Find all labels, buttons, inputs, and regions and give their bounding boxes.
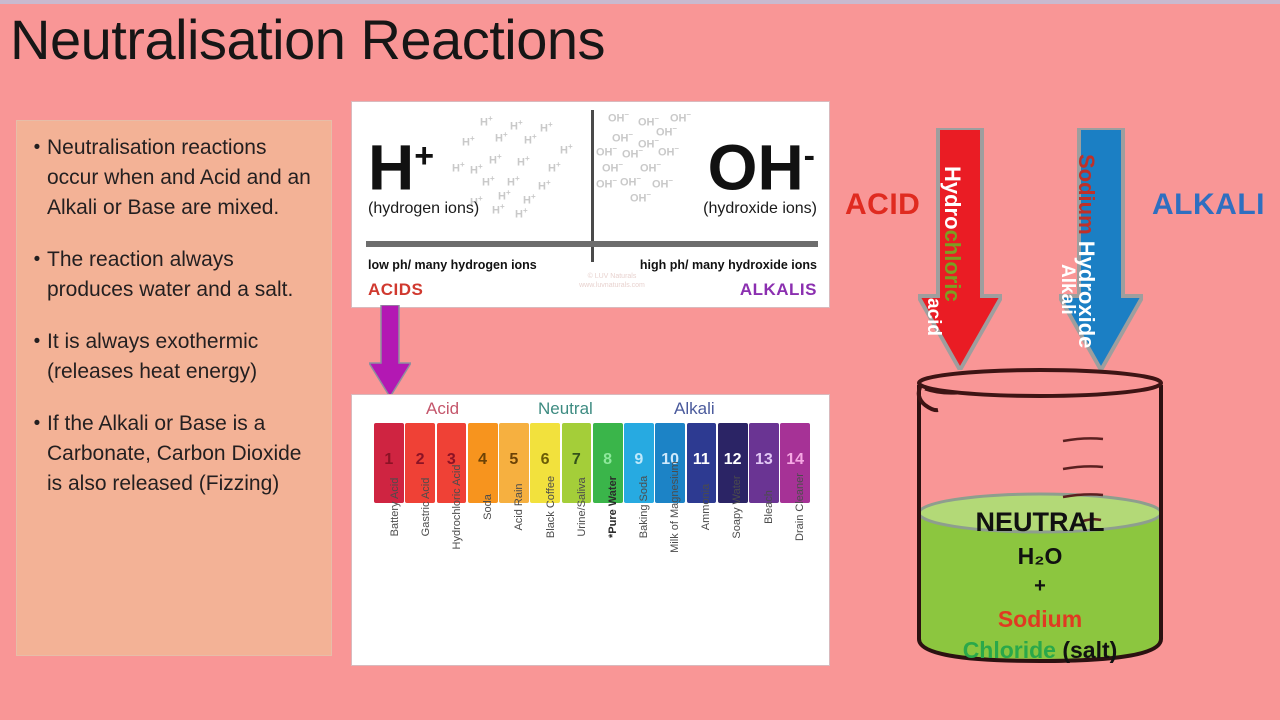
ion-glyph: H+ (548, 160, 561, 175)
acid-heading: ACID (845, 188, 920, 222)
ion-glyph: OH– (652, 176, 673, 191)
ion-glyph: H+ (517, 154, 530, 169)
acid-arrow-subtext: acid (922, 298, 944, 336)
bullet-marker: • (27, 245, 47, 305)
ph-substance-label: Ammonia (700, 484, 712, 530)
beaker-plus-sign: + (905, 575, 1175, 598)
ph-substance-label: Bleach (763, 490, 775, 524)
ph-substance-column: Baking Soda (623, 507, 653, 657)
bullet-marker: • (27, 133, 47, 223)
ph-substance-column: Gastric Acid (405, 507, 435, 657)
acids-label: ACIDS (368, 280, 423, 300)
beaker: NEUTRAL H₂O + Sodium Chloride (salt) (905, 363, 1175, 668)
ion-glyph: H+ (492, 202, 505, 217)
hydrogen-ion-symbol: H+ (368, 124, 434, 199)
ph-substance-column: Soda (467, 507, 497, 657)
ion-glyph: H+ (470, 162, 483, 177)
ion-panel-rule (366, 241, 818, 247)
ion-glyph: H+ (560, 142, 573, 157)
ph-substance-label: Hydrochloric Acid (451, 465, 463, 550)
ph-number: 5 (499, 451, 529, 469)
bullet-item: •It is always exothermic (releases heat … (27, 327, 317, 387)
ph-substance-label: Gastric Acid (420, 478, 432, 537)
ph-substance-column: Soapy Water (717, 507, 747, 657)
top-strip (0, 0, 1280, 4)
ion-glyph: H+ (498, 188, 511, 203)
ion-glyph: OH– (612, 130, 633, 145)
ph-substance-column: Black Coffee (530, 507, 560, 657)
ph-substance-label: Soapy Water (731, 475, 743, 538)
alkali-arrow-subtext: Alkali (1056, 264, 1078, 315)
bullet-text: If the Alkali or Base is a Carbonate, Ca… (47, 409, 317, 499)
ph-substance-label: Black Coffee (545, 476, 557, 538)
ph-substance-label: Acid Rain (513, 483, 525, 530)
ion-comparison-panel: H+H+H+H+H+H+H+H+H+H+H+H+H+H+H+H+H+H+H+H+… (351, 101, 830, 308)
ion-glyph: H+ (507, 174, 520, 189)
watermark-line-2: www.luvnaturals.com (532, 281, 692, 290)
hydrochloric-acid-arrow: Hydrochloric acid (918, 128, 1002, 370)
ph-substance-column: Battery Acid (374, 507, 404, 657)
ion-glyph: H+ (538, 178, 551, 193)
hydroxide-ion-caption: (hydroxide ions) (703, 200, 817, 218)
ph-substance-column: Milk of Magnesium (654, 507, 684, 657)
bullet-panel: •Neutralisation reactions occur when and… (16, 120, 332, 656)
ph-number: 12 (718, 451, 748, 469)
ph-substance-label: Battery Acid (389, 478, 401, 537)
ph-number: 14 (780, 451, 810, 469)
ph-number: 2 (405, 451, 435, 469)
bullet-text: It is always exothermic (releases heat e… (47, 327, 317, 387)
ph-substance-labels: Battery AcidGastric AcidHydrochloric Aci… (374, 507, 810, 657)
ph-zone-alkali: Alkali (674, 399, 715, 419)
ion-glyph: OH– (670, 110, 691, 125)
ph-number: 8 (593, 451, 623, 469)
watermark: © LUV Naturals www.luvnaturals.com (532, 272, 692, 290)
bullet-marker: • (27, 409, 47, 499)
ion-glyph: H+ (482, 174, 495, 189)
sodium-hydroxide-arrow: Sodium Hydroxide Alkali (1059, 128, 1143, 370)
ion-glyph: OH– (622, 146, 643, 161)
sodium-hydroxide-text: Sodium Hydroxide (1073, 154, 1099, 348)
ion-glyph: OH– (602, 160, 623, 175)
ion-glyph: H+ (480, 114, 493, 129)
ph-number: 13 (749, 451, 779, 469)
ion-glyph: H+ (523, 192, 536, 207)
hydrochloric-acid-text: Hydrochloric (939, 166, 965, 302)
ph-number: 1 (374, 451, 404, 469)
beaker-water-formula: H₂O (905, 543, 1175, 570)
ion-glyph: H+ (489, 152, 502, 167)
bullet-item: •The reaction always produces water and … (27, 245, 317, 305)
ph-substance-column: *Pure Water (592, 507, 622, 657)
ph-substance-label: Milk of Magnesium (669, 461, 681, 553)
ph-bar[interactable]: 4 (468, 423, 498, 503)
ph-zone-labels: Acid Neutral Alkali (352, 399, 829, 421)
ph-substance-label: Baking Soda (638, 476, 650, 538)
ion-glyph: H+ (452, 160, 465, 175)
bullet-text: The reaction always produces water and a… (47, 245, 317, 305)
bullet-text: Neutralisation reactions occur when and … (47, 133, 317, 223)
ion-glyph: OH– (596, 144, 617, 159)
ph-number: 6 (530, 451, 560, 469)
beaker-sodium-label: Sodium (905, 606, 1175, 633)
alkali-heading: ALKALI (1152, 188, 1265, 222)
hydroxide-ion-symbol: OH- (708, 124, 815, 199)
ion-glyph: OH– (620, 174, 641, 189)
ph-number: 7 (562, 451, 592, 469)
bullet-item: •If the Alkali or Base is a Carbonate, C… (27, 409, 317, 499)
ion-glyph: H+ (540, 120, 553, 135)
ph-number: 11 (687, 451, 717, 469)
ion-glyph: H+ (515, 206, 528, 221)
beaker-chloride-label: Chloride (salt) (905, 637, 1175, 664)
ion-glyph: H+ (510, 118, 523, 133)
ion-glyph: OH– (656, 124, 677, 139)
ph-substance-label: Drain Cleaner (794, 473, 806, 541)
ion-glyph: OH– (640, 160, 661, 175)
bullet-item: •Neutralisation reactions occur when and… (27, 133, 317, 223)
ph-zone-acid: Acid (426, 399, 459, 419)
hydrogen-ion-caption: (hydrogen ions) (368, 200, 479, 218)
ph-substance-label: Urine/Saliva (576, 477, 588, 536)
ph-substance-column: Ammonia (685, 507, 715, 657)
ion-glyph: OH– (608, 110, 629, 125)
ph-color-bars: 1234567891011121314 (374, 423, 810, 503)
ph-substance-column: Urine/Saliva (561, 507, 591, 657)
ph-number: 9 (624, 451, 654, 469)
ion-glyph: H+ (462, 134, 475, 149)
ion-panel-divider (591, 110, 594, 262)
ph-substance-label: *Pure Water (607, 476, 619, 538)
ph-number: 4 (468, 451, 498, 469)
low-ph-text: low ph/ many hydrogen ions (368, 258, 537, 272)
bullet-marker: • (27, 327, 47, 387)
ion-glyph: OH– (658, 144, 679, 159)
ph-substance-column: Bleach (748, 507, 778, 657)
ion-glyph: OH– (596, 176, 617, 191)
alkalis-label: ALKALIS (740, 280, 817, 300)
high-ph-text: high ph/ many hydroxide ions (640, 258, 817, 272)
watermark-line-1: © LUV Naturals (532, 272, 692, 281)
page-title: Neutralisation Reactions (10, 8, 605, 72)
ion-glyph: OH– (630, 190, 651, 205)
beaker-neutral-label: NEUTRAL (905, 507, 1175, 538)
ph-substance-column: Acid Rain (499, 507, 529, 657)
ph-substance-column: Hydrochloric Acid (436, 507, 466, 657)
ph-substance-label: Soda (482, 494, 494, 520)
ph-substance-column: Drain Cleaner (779, 507, 809, 657)
ph-scale-panel: Acid Neutral Alkali 1234567891011121314 … (351, 394, 830, 666)
ion-glyph: H+ (495, 130, 508, 145)
ion-glyph: H+ (524, 132, 537, 147)
down-arrow-icon (369, 305, 411, 397)
ph-zone-neutral: Neutral (538, 399, 593, 419)
